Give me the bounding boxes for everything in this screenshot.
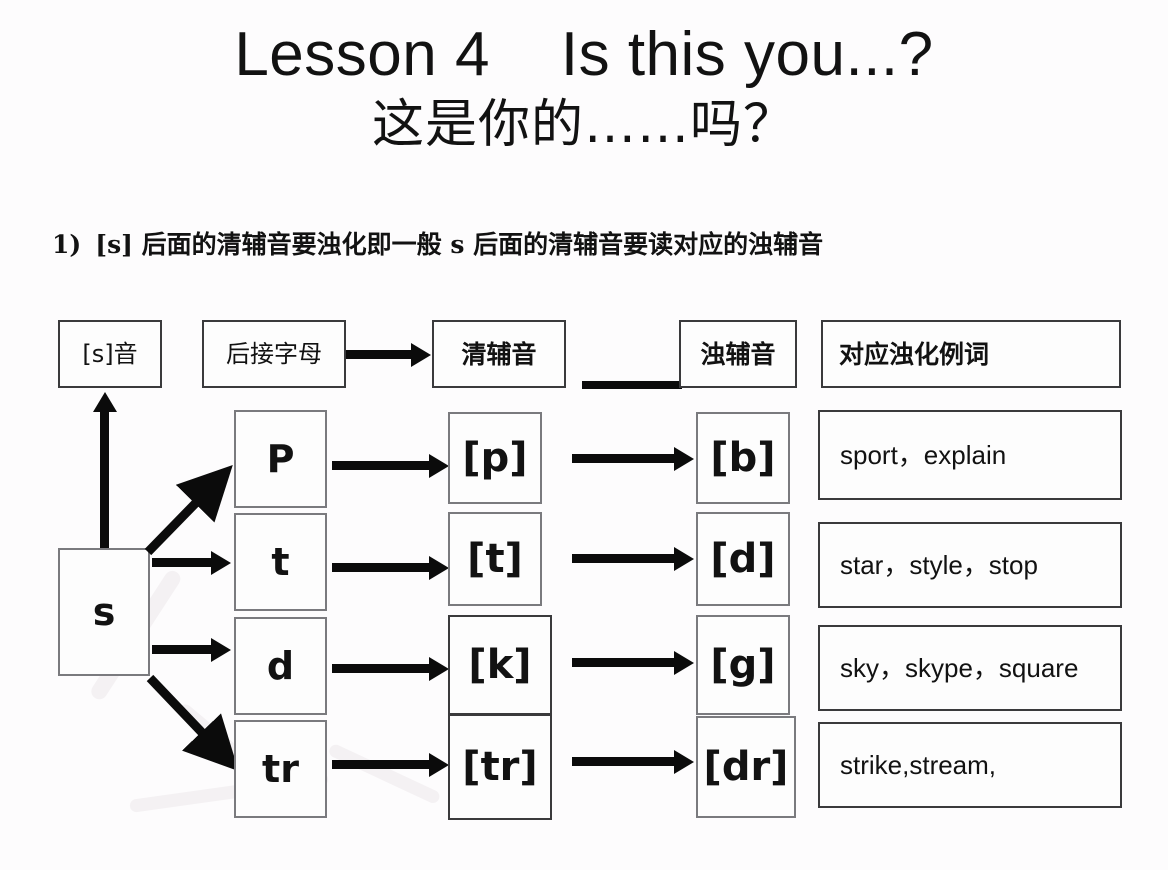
- header-voiced: 浊辅音: [679, 320, 797, 388]
- examples-label-row-1: sport，explain: [840, 442, 1006, 468]
- watermark-stroke: [327, 743, 441, 805]
- arrow-s-to-letter-d: [152, 645, 214, 654]
- voiced-label-row-4: [dr]: [704, 747, 789, 787]
- letter-label-row-3: d: [267, 647, 294, 685]
- voiceless-label-row-2: [t]: [467, 539, 523, 579]
- letter-box-row-3: d: [234, 617, 327, 715]
- header-examples-label: 对应浊化例词: [839, 342, 989, 367]
- letter-label-row-4: tr: [262, 750, 299, 788]
- voiced-box-row-3: [g]: [696, 615, 790, 715]
- page-title-chinese: 这是你的……吗？: [0, 92, 1168, 158]
- header-following-letter-label: 后接字母: [226, 342, 322, 366]
- voiceless-box-row-1: [p]: [448, 412, 542, 504]
- connector-voiceless-to-voiced: [582, 381, 682, 389]
- slide-page: Lesson 4 Is this you...? 这是你的……吗？ 1)[s] …: [0, 0, 1168, 870]
- examples-box-row-4: strike,stream,: [818, 722, 1122, 808]
- voiceless-box-row-2: [t]: [448, 512, 542, 606]
- arrow-s-to-letter-p: [140, 440, 240, 560]
- voiced-box-row-2: [d]: [696, 512, 790, 606]
- instruction-line: 1)[s] 后面的清辅音要浊化即一般 s 后面的清辅音要读对应的浊辅音: [52, 228, 1142, 262]
- instruction-number: 1): [52, 230, 81, 259]
- arrow-s-to-s-sound: [100, 410, 109, 548]
- examples-label-row-4: strike,stream,: [840, 752, 996, 778]
- header-examples: 对应浊化例词: [821, 320, 1121, 388]
- voiceless-box-row-3: [k]: [448, 615, 552, 715]
- examples-label-row-3: sky，skype，square: [840, 655, 1078, 681]
- source-box-s: s: [58, 548, 150, 676]
- voiceless-label-row-1: [p]: [462, 438, 527, 478]
- arrow-voiceless-to-voiced-row-2: [572, 554, 677, 563]
- arrow-letter-to-voiceless-row-4: [332, 760, 432, 769]
- voiceless-label-row-3: [k]: [468, 645, 531, 685]
- source-box-s-label: s: [93, 593, 116, 631]
- header-voiceless-label: 清辅音: [461, 342, 536, 367]
- letter-box-row-1: P: [234, 410, 327, 508]
- arrow-letter-to-voiceless-row-2: [332, 563, 432, 572]
- arrow-letter-to-voiceless-row-3: [332, 664, 432, 673]
- examples-box-row-2: star，style，stop: [818, 522, 1122, 608]
- voiced-box-row-4: [dr]: [696, 716, 796, 818]
- arrow-letter-to-voiceless-row-1: [332, 461, 432, 470]
- letter-label-row-1: P: [267, 440, 295, 478]
- header-s-sound-label: [s]音: [82, 342, 137, 366]
- voiced-label-row-1: [b]: [710, 438, 775, 478]
- voiced-box-row-1: [b]: [696, 412, 790, 504]
- letter-box-row-4: tr: [234, 720, 327, 818]
- voiced-label-row-2: [d]: [710, 539, 775, 579]
- arrow-voiceless-to-voiced-row-1: [572, 454, 677, 463]
- header-voiceless: 清辅音: [432, 320, 566, 388]
- header-following-letter: 后接字母: [202, 320, 346, 388]
- instruction-text: [s] 后面的清辅音要浊化即一般 s 后面的清辅音要读对应的浊辅音: [95, 230, 823, 259]
- arrow-voiceless-to-voiced-row-4: [572, 757, 677, 766]
- arrow-s-to-letter-t: [152, 558, 214, 567]
- voiceless-label-row-4: [tr]: [462, 747, 537, 787]
- arrow-following-letter-to-voiceless: [346, 350, 414, 359]
- voiced-label-row-3: [g]: [710, 645, 775, 685]
- header-voiced-label: 浊辅音: [700, 342, 775, 367]
- page-title-english: Lesson 4 Is this you...?: [0, 18, 1168, 92]
- title-block: Lesson 4 Is this you...? 这是你的……吗？: [0, 18, 1168, 158]
- header-s-sound: [s]音: [58, 320, 162, 388]
- letter-label-row-2: t: [271, 543, 289, 581]
- examples-box-row-1: sport，explain: [818, 410, 1122, 500]
- arrow-voiceless-to-voiced-row-3: [572, 658, 677, 667]
- examples-box-row-3: sky，skype，square: [818, 625, 1122, 711]
- letter-box-row-2: t: [234, 513, 327, 611]
- voiceless-box-row-4: [tr]: [448, 714, 552, 820]
- examples-label-row-2: star，style，stop: [840, 552, 1038, 578]
